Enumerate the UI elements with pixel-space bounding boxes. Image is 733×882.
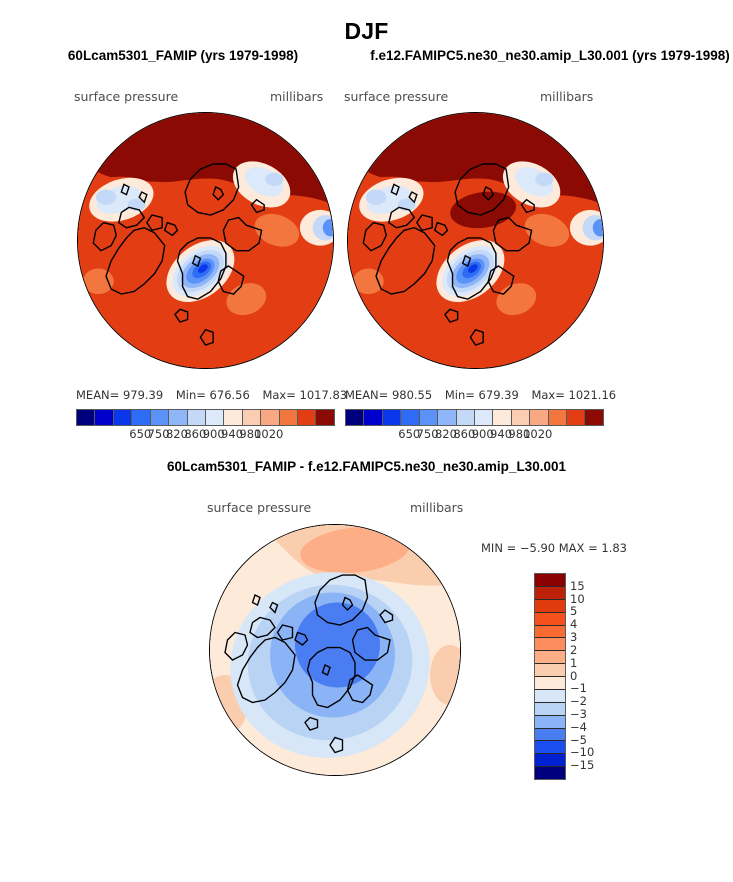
colorbar-cell-0 [77,410,95,425]
colorbar-cell-4 [151,410,169,425]
colorbar-cell-9 [243,410,261,425]
diff-colorbar-cell-8 [535,677,565,690]
diff-colorbar-cell-9 [535,690,565,703]
diff-colorbar-cell-12 [535,729,565,742]
colorbar-cell-4 [420,410,438,425]
colorbar-cell-10 [530,410,548,425]
control-panel-title: f.e12.FAMIPC5.ne30_ne30.amip_L30.001 (yr… [367,48,733,63]
colorbar-cell-2 [383,410,401,425]
diff-colorbar-cell-11 [535,716,565,729]
colorbar-cell-6 [188,410,206,425]
colorbar-cell-12 [298,410,316,425]
colorbar-cell-5 [438,410,456,425]
colorbar-tick: 1020 [523,427,552,441]
control-mean: MEAN= 980.55 [345,388,432,402]
control-min: Min= 679.39 [445,388,519,402]
test-panel-title: 60Lcam5301_FAMIP (yrs 1979-1998) [0,48,366,63]
difference-polar-map[interactable] [209,524,461,776]
difference-units-label: millibars [410,500,463,515]
test-max: Max= 1017.83 [262,388,347,402]
test-min: Min= 676.56 [176,388,250,402]
colorbar-cell-5 [169,410,187,425]
contour-band [83,269,114,295]
colorbar-cell-12 [567,410,585,425]
contour-band [366,190,386,205]
colorbar-cell-8 [224,410,242,425]
contour-band [96,190,116,205]
difference-colorbar-ticks: 1510543210−1−2−3−4−5−10−15 [570,573,610,778]
map-canvas [210,525,460,775]
test-units-label: millibars [270,89,323,104]
colorbar-cell-1 [95,410,113,425]
colorbar-cell-10 [261,410,279,425]
control-colorbar[interactable] [345,409,604,426]
test-polar-map[interactable] [77,112,334,369]
contour-band [353,269,384,295]
colorbar-cell-1 [364,410,382,425]
test-mean: MEAN= 979.39 [76,388,163,402]
diff-colorbar-cell-4 [535,626,565,639]
colorbar-cell-2 [114,410,132,425]
test-stats: MEAN= 979.39 Min= 676.56 Max= 1017.83 [76,388,347,402]
diff-colorbar-tick: −15 [570,758,594,772]
figure-canvas: DJF 60Lcam5301_FAMIP (yrs 1979-1998) f.e… [0,0,733,882]
diff-colorbar-cell-7 [535,664,565,677]
colorbar-cell-7 [475,410,493,425]
contour-band [535,173,553,186]
diff-colorbar-cell-10 [535,703,565,716]
control-stats: MEAN= 980.55 Min= 679.39 Max= 1021.16 [345,388,616,402]
page-title: DJF [0,18,733,45]
difference-colorbar[interactable] [534,573,566,780]
colorbar-cell-8 [493,410,511,425]
control-max: Max= 1021.16 [531,388,616,402]
difference-variable-label: surface pressure [207,500,311,515]
diff-colorbar-cell-1 [535,587,565,600]
diff-colorbar-cell-15 [535,767,565,779]
difference-panel-title: 60Lcam5301_FAMIP - f.e12.FAMIPC5.ne30_ne… [0,459,733,474]
diff-colorbar-cell-5 [535,638,565,651]
diff-colorbar-cell-2 [535,600,565,613]
colorbar-cell-11 [280,410,298,425]
test-colorbar-ticks: 6507508208609009409801020 [76,427,333,443]
control-units-label: millibars [540,89,593,104]
diff-colorbar-cell-0 [535,574,565,587]
colorbar-cell-9 [512,410,530,425]
difference-minmax-label: MIN = −5.90 MAX = 1.83 [481,541,627,555]
diff-colorbar-cell-14 [535,754,565,767]
control-colorbar-ticks: 6507508208609009409801020 [345,427,602,443]
map-canvas [78,113,333,368]
colorbar-cell-0 [346,410,364,425]
diff-colorbar-cell-13 [535,741,565,754]
map-canvas [348,113,603,368]
colorbar-cell-3 [401,410,419,425]
contour-band [265,173,283,186]
colorbar-tick: 1020 [254,427,283,441]
colorbar-cell-11 [549,410,567,425]
colorbar-cell-6 [457,410,475,425]
colorbar-cell-3 [132,410,150,425]
diff-colorbar-cell-6 [535,651,565,664]
colorbar-cell-7 [206,410,224,425]
colorbar-cell-13 [585,410,602,425]
colorbar-cell-13 [316,410,333,425]
control-polar-map[interactable] [347,112,604,369]
test-colorbar[interactable] [76,409,335,426]
diff-colorbar-cell-3 [535,613,565,626]
test-variable-label: surface pressure [74,89,178,104]
control-variable-label: surface pressure [344,89,448,104]
